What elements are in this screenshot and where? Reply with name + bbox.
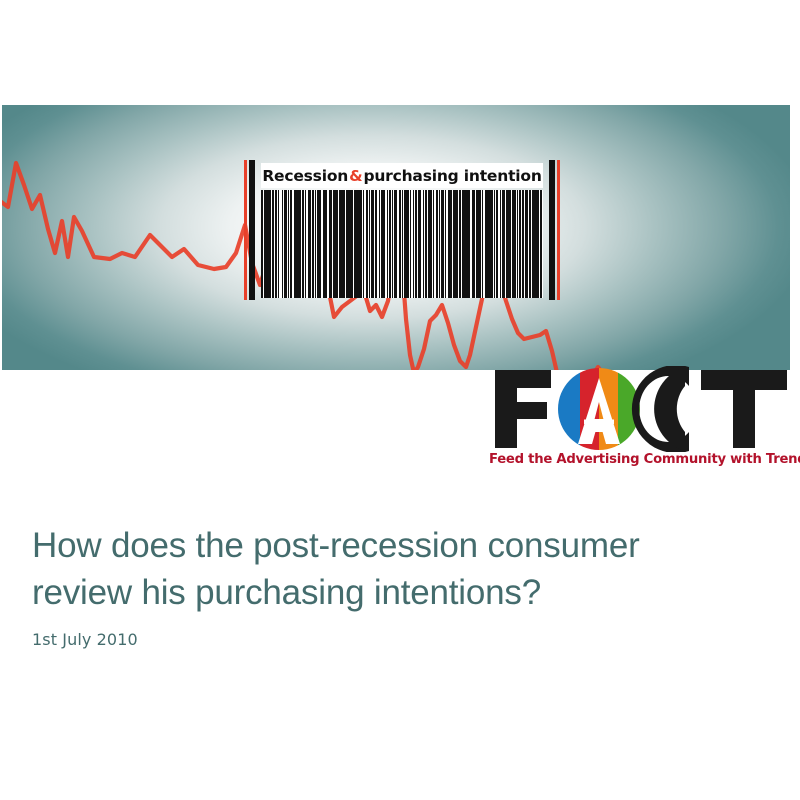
fact-logo-tagline: Feed the Advertising Community with Tren…: [489, 452, 791, 467]
title-block: How does the post-recession consumer rev…: [32, 522, 772, 650]
slide-date: 1st July 2010: [32, 630, 772, 650]
headline-prefix: Recession: [262, 167, 348, 185]
headline-suffix: purchasing intention: [363, 167, 541, 185]
presentation-slide: Recession & purchasing intention: [0, 0, 800, 800]
barcode-gap: [542, 190, 543, 298]
barcode-red-line-left: [244, 160, 247, 300]
title-line-1: How does the post-recession consumer: [32, 526, 640, 565]
page-title: How does the post-recession consumer rev…: [32, 522, 772, 616]
barcode-bars: [261, 190, 543, 298]
trend-line-left: [2, 163, 284, 285]
barcode-guard-right: [549, 160, 555, 300]
logo-letter-f: [495, 370, 551, 448]
barcode-red-line-right: [557, 160, 560, 300]
fact-wordmark-icon: [489, 366, 791, 452]
logo-letter-c: [632, 366, 689, 452]
banner-headline: Recession & purchasing intention: [261, 163, 543, 188]
headline-ampersand: &: [348, 167, 363, 185]
logo-letter-t: [701, 370, 787, 448]
barcode-guard-left: [249, 160, 255, 300]
banner-image: Recession & purchasing intention: [2, 105, 790, 370]
logo-letter-a-colorwheel: [558, 368, 640, 450]
barcode-graphic: Recession & purchasing intention: [243, 160, 561, 300]
fact-logo: Feed the Advertising Community with Tren…: [489, 366, 791, 478]
title-line-2: review his purchasing intentions?: [32, 573, 541, 612]
